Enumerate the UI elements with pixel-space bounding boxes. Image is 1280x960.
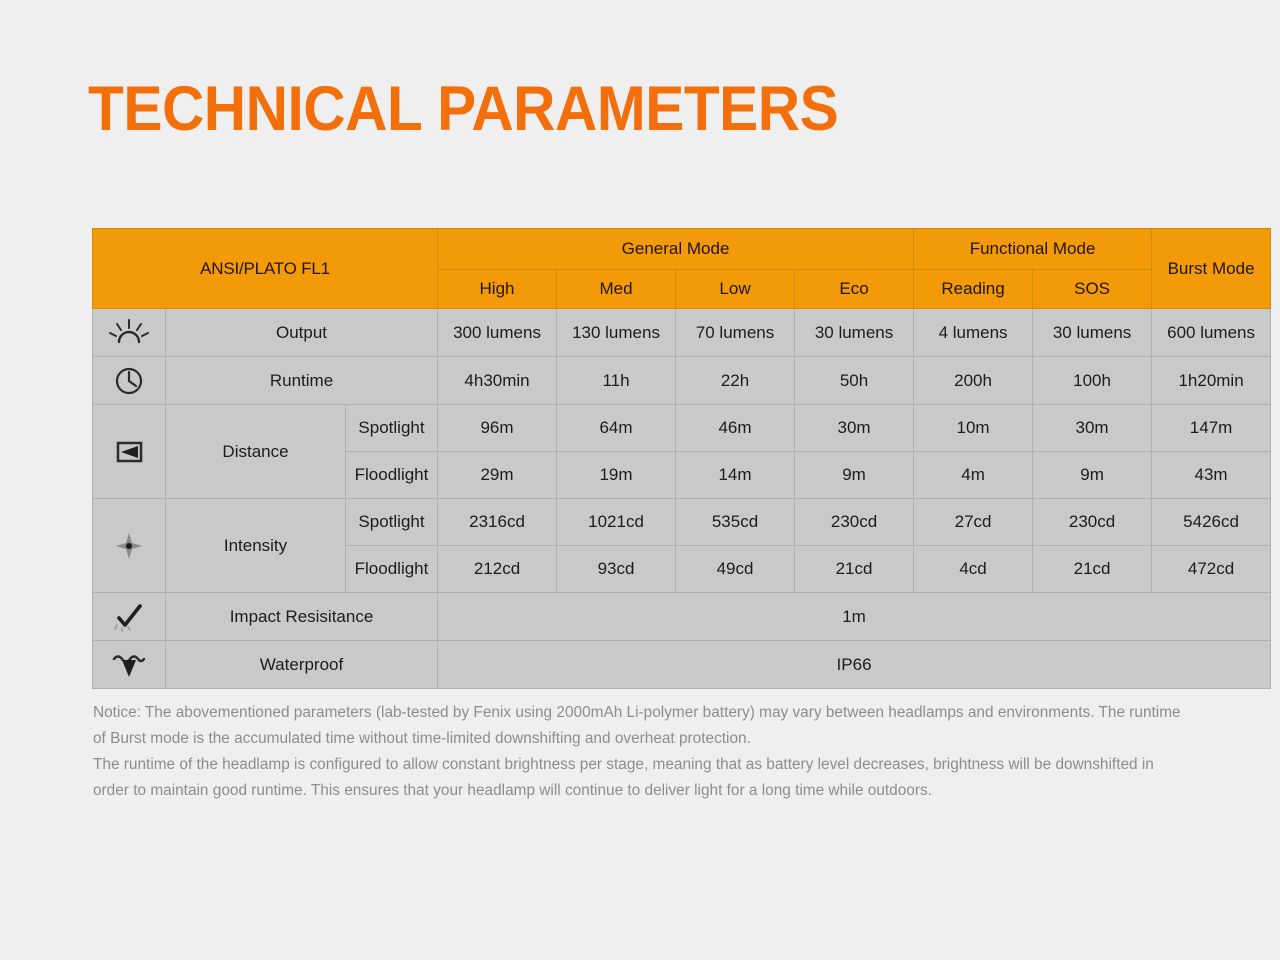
cell-value: 4cd <box>914 546 1033 593</box>
cell-value: 22h <box>676 357 795 405</box>
cell-value: 1021cd <box>557 499 676 546</box>
cell-value: 14m <box>676 452 795 499</box>
group-general-mode: General Mode <box>438 229 914 270</box>
cell-value: 43m <box>1152 452 1271 499</box>
group-burst-mode: Burst Mode <box>1152 229 1271 309</box>
cell-value: 230cd <box>1033 499 1152 546</box>
mode-low: Low <box>676 270 795 309</box>
cell-value: 9m <box>1033 452 1152 499</box>
notice-paragraph-1: Notice: The abovementioned parameters (l… <box>93 700 1188 752</box>
group-functional-mode: Functional Mode <box>914 229 1152 270</box>
beam-distance-icon <box>108 435 150 469</box>
light-burst-icon <box>108 316 150 350</box>
cell-value: 212cd <box>438 546 557 593</box>
cell-value: 4 lumens <box>914 309 1033 357</box>
mode-high: High <box>438 270 557 309</box>
cell-value: 472cd <box>1152 546 1271 593</box>
cell-value: 29m <box>438 452 557 499</box>
row-sublabel: Spotlight <box>346 499 438 546</box>
ansi-plato-label: ANSI/PLATO FL1 <box>93 229 438 309</box>
table-row: Impact Resisitance 1m <box>93 593 1271 641</box>
cell-value: 1h20min <box>1152 357 1271 405</box>
row-sublabel: Floodlight <box>346 546 438 593</box>
spec-table-header: ANSI/PLATO FL1 General Mode Functional M… <box>93 229 1271 309</box>
intensity-star-icon <box>108 529 150 563</box>
cell-value: 30 lumens <box>1033 309 1152 357</box>
intensity-star-icon-cell <box>93 499 166 593</box>
cell-value: 5426cd <box>1152 499 1271 546</box>
clock-icon <box>108 364 150 398</box>
row-label: Output <box>166 309 438 357</box>
cell-value: 96m <box>438 405 557 452</box>
row-label: Intensity <box>166 499 346 593</box>
notice-block: Notice: The abovementioned parameters (l… <box>93 700 1188 804</box>
notice-paragraph-2: The runtime of the headlamp is configure… <box>93 752 1188 804</box>
row-label: Distance <box>166 405 346 499</box>
light-burst-icon-cell <box>93 309 166 357</box>
cell-value: 4m <box>914 452 1033 499</box>
cell-value: 70 lumens <box>676 309 795 357</box>
cell-value: 2316cd <box>438 499 557 546</box>
mode-reading: Reading <box>914 270 1033 309</box>
merged-value: IP66 <box>438 641 1271 689</box>
table-row: Distance Spotlight 96m 64m 46m 30m 10m 3… <box>93 405 1271 452</box>
cell-value: 230cd <box>795 499 914 546</box>
cell-value: 30m <box>1033 405 1152 452</box>
cell-value: 21cd <box>1033 546 1152 593</box>
spec-table-wrapper: ANSI/PLATO FL1 General Mode Functional M… <box>92 228 1186 689</box>
cell-value: 130 lumens <box>557 309 676 357</box>
mode-sos: SOS <box>1033 270 1152 309</box>
cell-value: 27cd <box>914 499 1033 546</box>
cell-value: 49cd <box>676 546 795 593</box>
cell-value: 46m <box>676 405 795 452</box>
cell-value: 300 lumens <box>438 309 557 357</box>
impact-check-icon <box>108 600 150 634</box>
cell-value: 64m <box>557 405 676 452</box>
cell-value: 10m <box>914 405 1033 452</box>
technical-parameters-page: TECHNICAL PARAMETERS ANSI/PLATO FL1 Gene… <box>0 0 1280 960</box>
cell-value: 9m <box>795 452 914 499</box>
beam-distance-icon-cell <box>93 405 166 499</box>
cell-value: 11h <box>557 357 676 405</box>
row-sublabel: Spotlight <box>346 405 438 452</box>
spec-table-body: Output 300 lumens 130 lumens 70 lumens 3… <box>93 309 1271 689</box>
row-label: Waterproof <box>166 641 438 689</box>
mode-med: Med <box>557 270 676 309</box>
cell-value: 19m <box>557 452 676 499</box>
table-row: Waterproof IP66 <box>93 641 1271 689</box>
mode-eco: Eco <box>795 270 914 309</box>
cell-value: 100h <box>1033 357 1152 405</box>
cell-value: 147m <box>1152 405 1271 452</box>
row-label: Runtime <box>166 357 438 405</box>
cell-value: 4h30min <box>438 357 557 405</box>
row-label: Impact Resisitance <box>166 593 438 641</box>
cell-value: 50h <box>795 357 914 405</box>
spec-table: ANSI/PLATO FL1 General Mode Functional M… <box>92 228 1271 689</box>
impact-check-icon-cell <box>93 593 166 641</box>
cell-value: 200h <box>914 357 1033 405</box>
cell-value: 30 lumens <box>795 309 914 357</box>
cell-value: 93cd <box>557 546 676 593</box>
page-title: TECHNICAL PARAMETERS <box>88 78 838 141</box>
cell-value: 30m <box>795 405 914 452</box>
cell-value: 600 lumens <box>1152 309 1271 357</box>
waterproof-icon <box>108 648 150 682</box>
cell-value: 535cd <box>676 499 795 546</box>
row-sublabel: Floodlight <box>346 452 438 499</box>
clock-icon-cell <box>93 357 166 405</box>
cell-value: 21cd <box>795 546 914 593</box>
table-row: Intensity Spotlight 2316cd 1021cd 535cd … <box>93 499 1271 546</box>
table-row: Output 300 lumens 130 lumens 70 lumens 3… <box>93 309 1271 357</box>
merged-value: 1m <box>438 593 1271 641</box>
table-row: Runtime 4h30min 11h 22h 50h 200h 100h 1h… <box>93 357 1271 405</box>
waterproof-icon-cell <box>93 641 166 689</box>
